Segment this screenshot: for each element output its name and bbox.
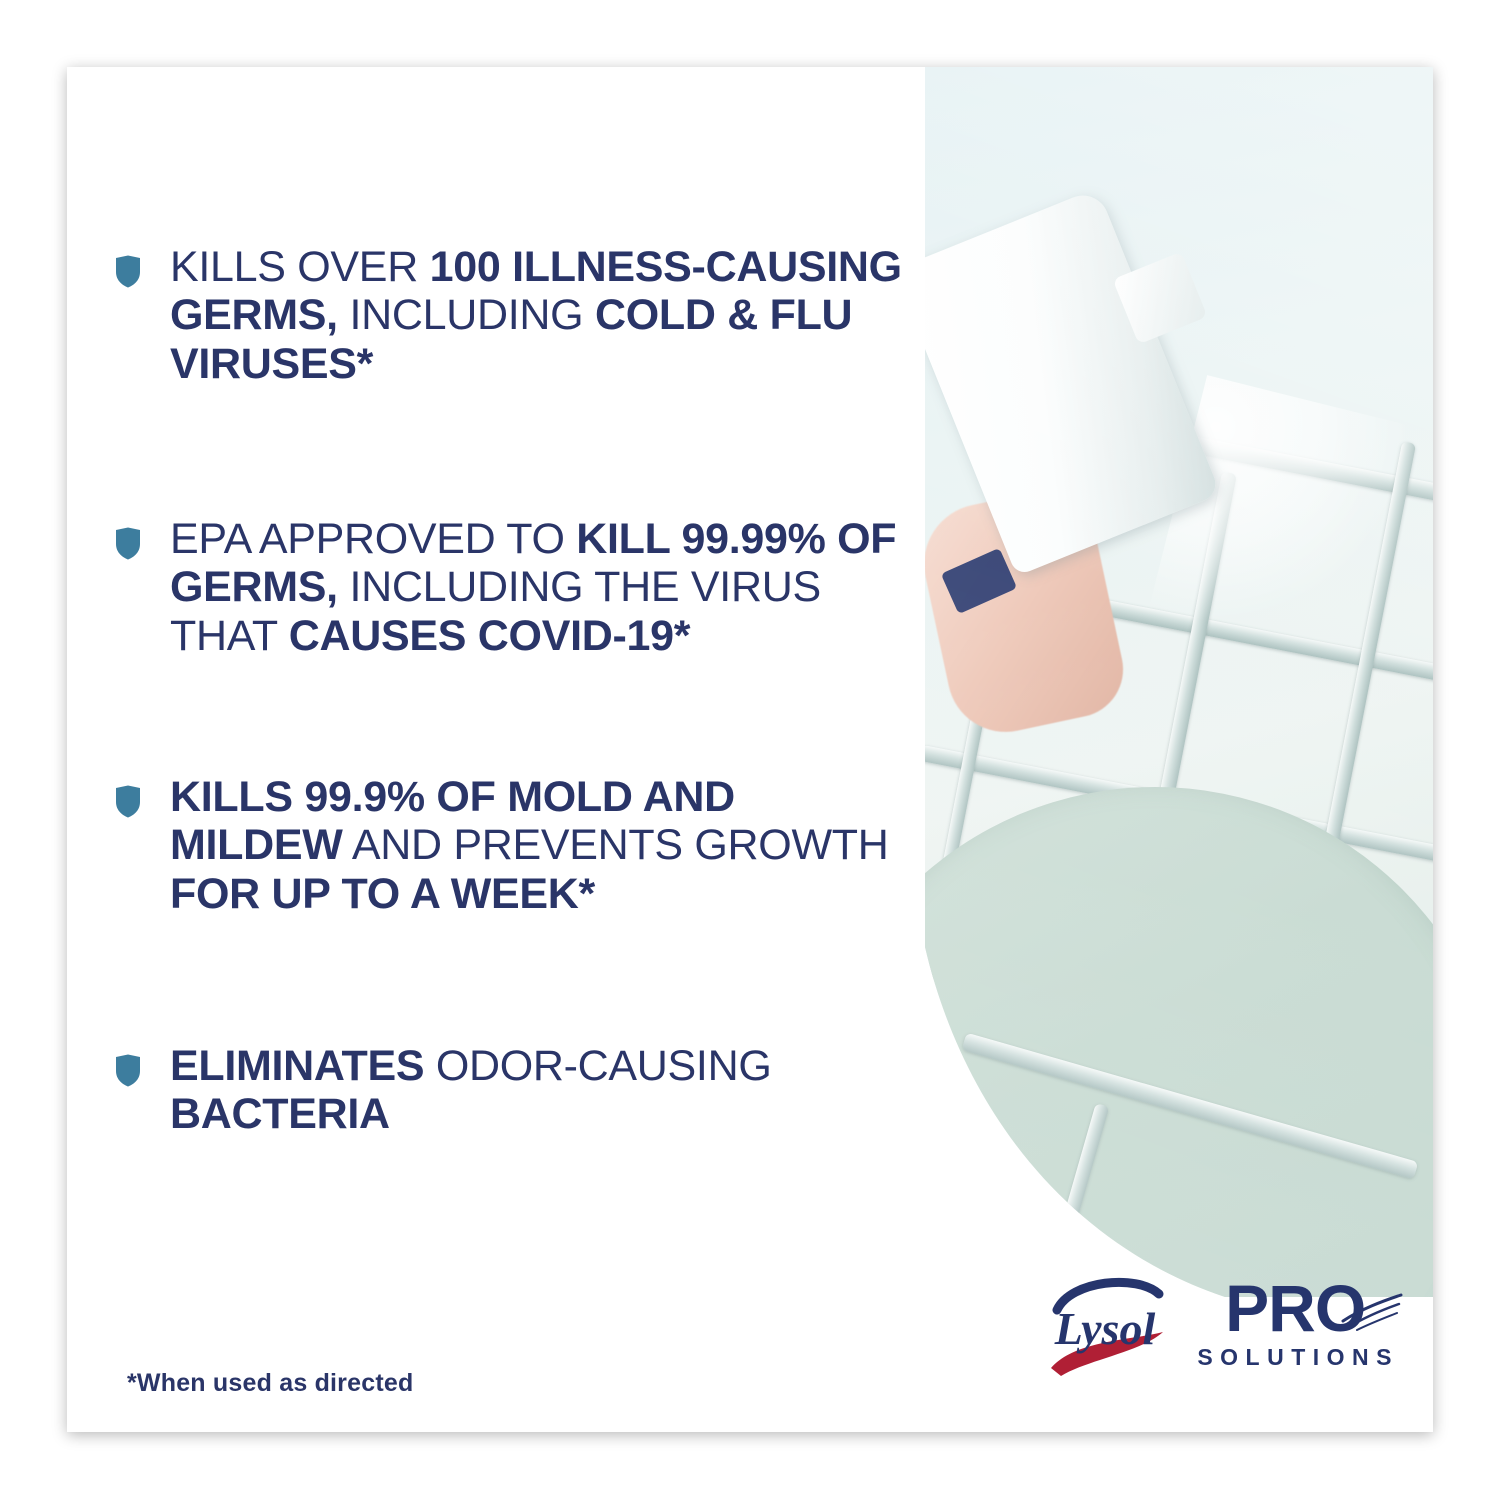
feature-list: KILLS OVER 100 ILLNESS-CAUSING GERMS, IN… — [114, 67, 934, 1432]
pro-solutions-logo: PRO SOLUTIONS — [1191, 1277, 1399, 1371]
feature-text: ELIMINATES ODOR-CAUSING BACTERIA — [170, 1042, 910, 1139]
lysol-wordmark: Lysol — [1054, 1303, 1156, 1354]
feature-bullet: KILLS OVER 100 ILLNESS-CAUSING GERMS, IN… — [114, 243, 910, 388]
feature-bullet: EPA APPROVED TO KILL 99.99% OF GERMS, IN… — [114, 515, 910, 660]
product-photo: Lysol PRO SOLUTIONS — [925, 67, 1433, 1432]
photo-scene — [925, 67, 1433, 1297]
feature-text: KILLS 99.9% OF MOLD AND MILDEW AND PREVE… — [170, 773, 910, 918]
shield-icon — [114, 527, 142, 560]
pro-wordmark: PRO — [1225, 1277, 1365, 1340]
feature-bullet: ELIMINATES ODOR-CAUSING BACTERIA — [114, 1042, 910, 1139]
shield-icon — [114, 1054, 142, 1087]
brand-logo-lockup: Lysol PRO SOLUTIONS — [1041, 1268, 1399, 1380]
shield-icon — [114, 255, 142, 288]
feature-text: EPA APPROVED TO KILL 99.99% OF GERMS, IN… — [170, 515, 910, 660]
shield-icon — [114, 785, 142, 818]
feature-bullet: KILLS 99.9% OF MOLD AND MILDEW AND PREVE… — [114, 773, 910, 918]
solutions-wordmark: SOLUTIONS — [1197, 1344, 1399, 1371]
lysol-logo: Lysol — [1041, 1268, 1169, 1380]
feature-text: KILLS OVER 100 ILLNESS-CAUSING GERMS, IN… — [170, 243, 910, 388]
product-feature-card: KILLS OVER 100 ILLNESS-CAUSING GERMS, IN… — [67, 67, 1433, 1432]
footnote-disclaimer: *When used as directed — [127, 1369, 413, 1398]
